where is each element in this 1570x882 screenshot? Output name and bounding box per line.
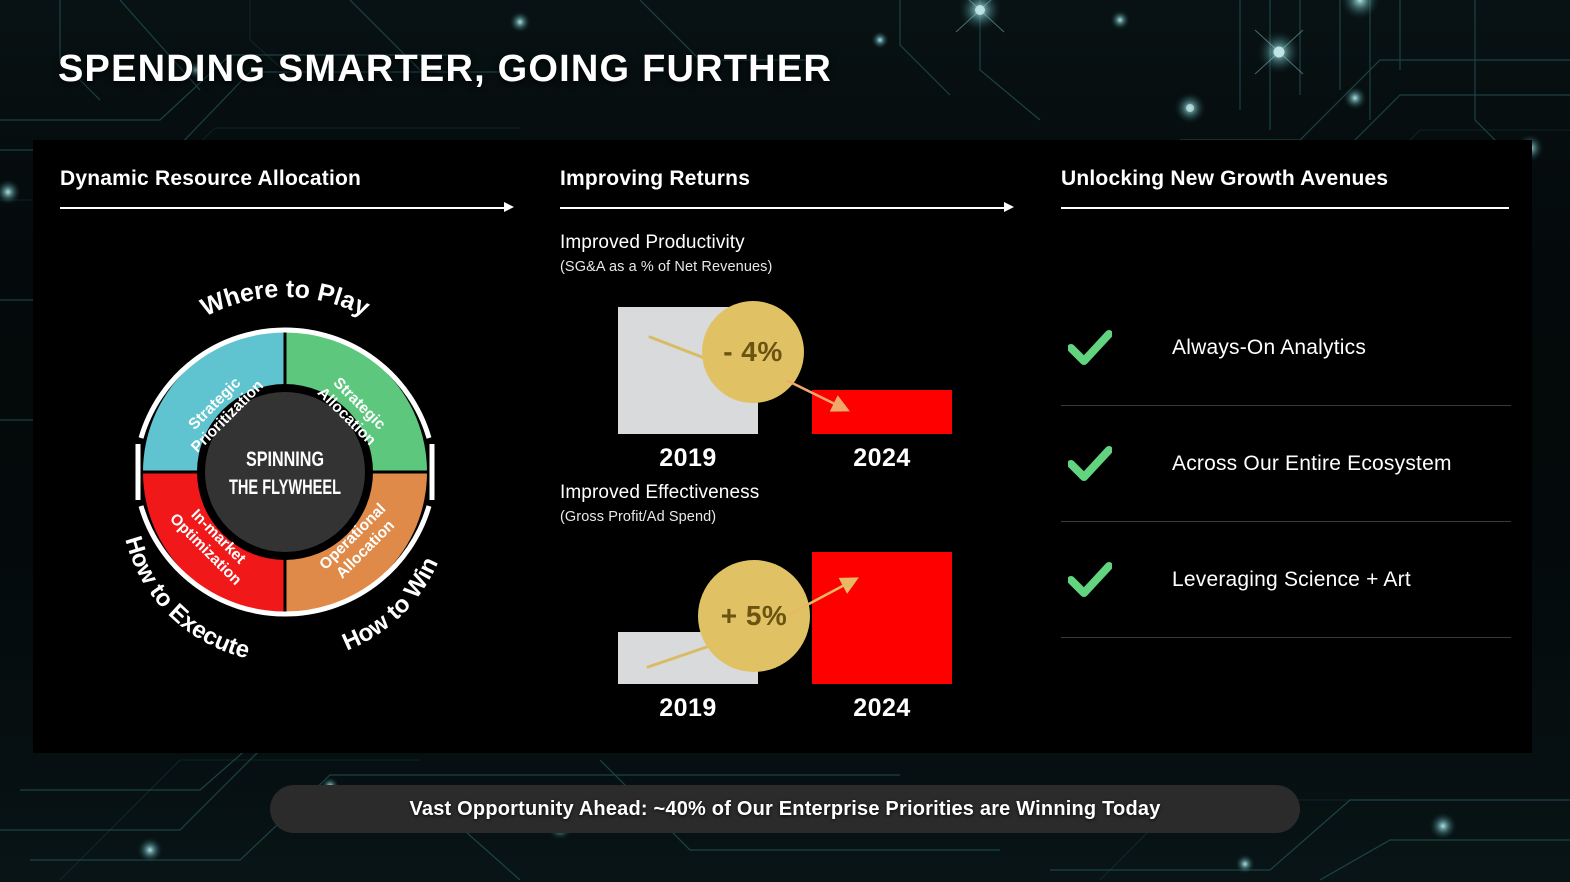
flywheel-label-where-to-play: Where to Play xyxy=(196,275,374,322)
content-panel: Dynamic Resource Allocation Improving Re… xyxy=(33,140,1532,753)
chart-plot-area: + 5% 2019 2024 xyxy=(560,539,960,729)
footer-text: Vast Opportunity Ahead: ~40% of Our Ente… xyxy=(409,798,1160,821)
column-header-label: Improving Returns xyxy=(560,167,1015,191)
growth-avenues-list: Always-On Analytics Across Our Entire Ec… xyxy=(1061,290,1511,638)
x-tick-2019: 2019 xyxy=(618,444,758,473)
chart-title: Improved Effectiveness xyxy=(560,482,980,504)
chart-plot-area: - 4% 2019 2024 xyxy=(560,289,960,479)
list-divider xyxy=(1061,637,1511,638)
chart-improved-productivity: Improved Productivity (SG&A as a % of Ne… xyxy=(560,232,980,479)
callout-bubble-effectiveness: + 5% xyxy=(698,560,810,672)
chart-subtitle: (SG&A as a % of Net Revenues) xyxy=(560,259,980,275)
list-item[interactable]: Leveraging Science + Art xyxy=(1061,522,1511,637)
arrow-head-icon xyxy=(1004,202,1014,212)
header-arrow-line xyxy=(60,202,515,214)
column-header-unlocking-new-growth-avenues: Unlocking New Growth Avenues xyxy=(1061,167,1511,214)
check-icon xyxy=(1061,330,1119,366)
chart-title: Improved Productivity xyxy=(560,232,980,254)
footer-banner: Vast Opportunity Ahead: ~40% of Our Ente… xyxy=(270,785,1300,833)
svg-text:THE FLYWHEEL: THE FLYWHEEL xyxy=(229,476,341,499)
slide-title: SPENDING SMARTER, GOING FURTHER xyxy=(58,48,832,91)
bar-2024 xyxy=(812,552,952,684)
column-header-improving-returns: Improving Returns xyxy=(560,167,1015,214)
x-tick-2024: 2024 xyxy=(812,694,952,723)
header-arrow-line xyxy=(560,202,1015,214)
chart-improved-effectiveness: Improved Effectiveness (Gross Profit/Ad … xyxy=(560,482,980,729)
arrow-head-icon xyxy=(504,202,514,212)
header-line xyxy=(1061,202,1511,214)
svg-text:SPINNING: SPINNING xyxy=(246,448,324,471)
flywheel-diagram: Where to Play How to Execute How to Win … xyxy=(60,222,510,692)
x-tick-2024: 2024 xyxy=(812,444,952,473)
callout-bubble-productivity: - 4% xyxy=(702,301,804,403)
column-header-dynamic-resource-allocation: Dynamic Resource Allocation xyxy=(60,167,515,214)
column-header-label: Dynamic Resource Allocation xyxy=(60,167,515,191)
check-icon xyxy=(1061,446,1119,482)
list-item[interactable]: Always-On Analytics xyxy=(1061,290,1511,405)
callout-value: - 4% xyxy=(723,336,783,368)
column-header-label: Unlocking New Growth Avenues xyxy=(1061,167,1511,191)
callout-value: + 5% xyxy=(721,600,788,632)
chart-subtitle: (Gross Profit/Ad Spend) xyxy=(560,509,980,525)
list-item-label: Across Our Entire Ecosystem xyxy=(1119,452,1452,476)
list-item-label: Always-On Analytics xyxy=(1119,336,1366,360)
x-tick-2019: 2019 xyxy=(618,694,758,723)
list-item[interactable]: Across Our Entire Ecosystem xyxy=(1061,406,1511,521)
bar-2024 xyxy=(812,390,952,434)
check-icon xyxy=(1061,562,1119,598)
list-item-label: Leveraging Science + Art xyxy=(1119,568,1411,592)
